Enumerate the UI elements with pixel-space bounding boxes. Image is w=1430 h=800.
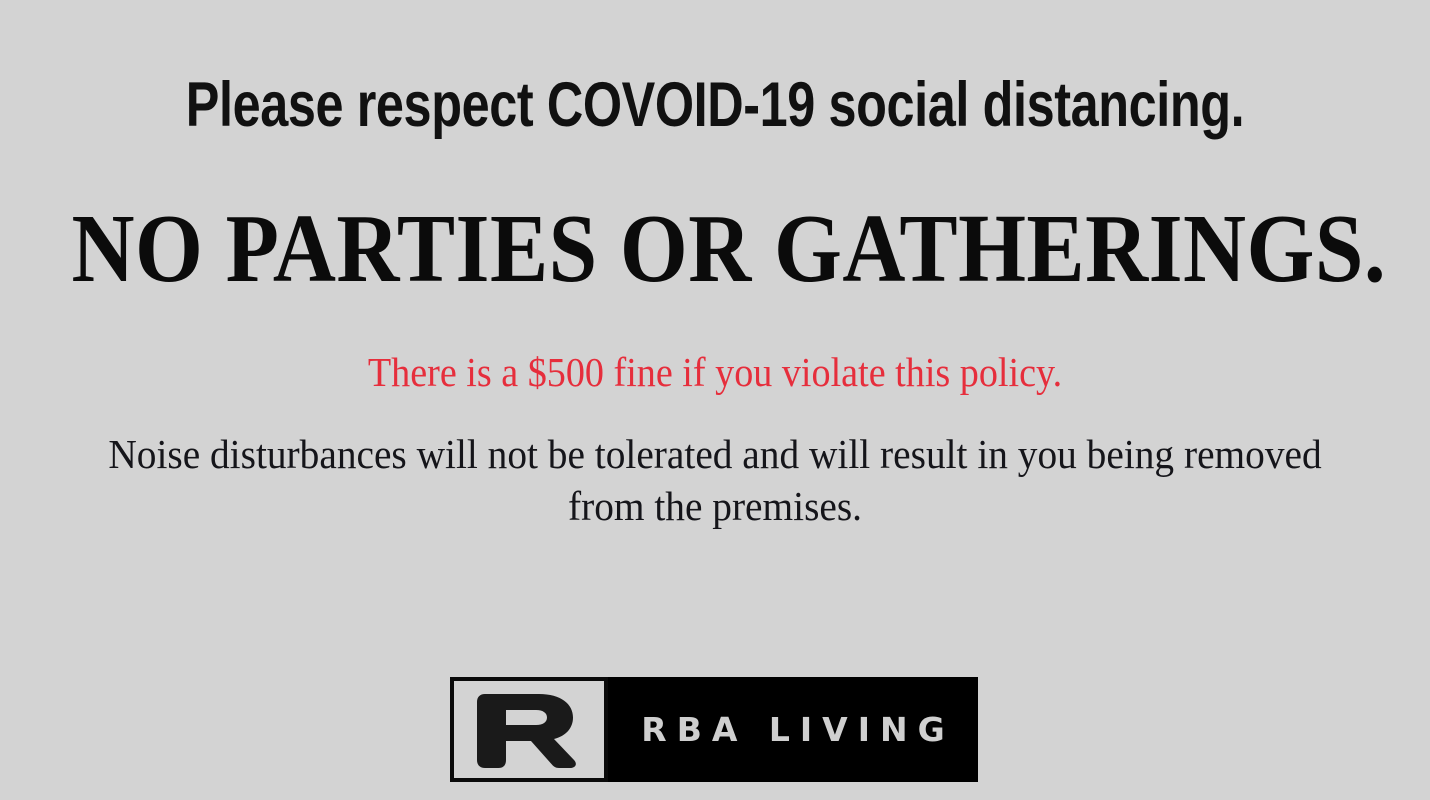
logo-wordmark: RBA LIVING — [608, 713, 978, 746]
notice-sign: Please respect COVOID-19 social distanci… — [0, 0, 1430, 800]
rba-living-logo: RBA LIVING — [450, 677, 978, 782]
fine-notice-suffix: fine if you violate this policy. — [604, 349, 1062, 395]
fine-notice: There is a $500 fine if you violate this… — [50, 350, 1380, 396]
logo-mark-box — [450, 677, 608, 782]
headline: NO PARTIES OR GATHERINGS. — [72, 200, 1359, 297]
fine-amount: $500 — [528, 349, 604, 395]
subject-line: Please respect COVOID-19 social distanci… — [143, 72, 1287, 138]
body-text: Noise disturbances will not be tolerated… — [101, 428, 1330, 532]
fine-notice-prefix: There is a — [368, 349, 528, 395]
rba-r-monogram-icon — [475, 692, 583, 768]
